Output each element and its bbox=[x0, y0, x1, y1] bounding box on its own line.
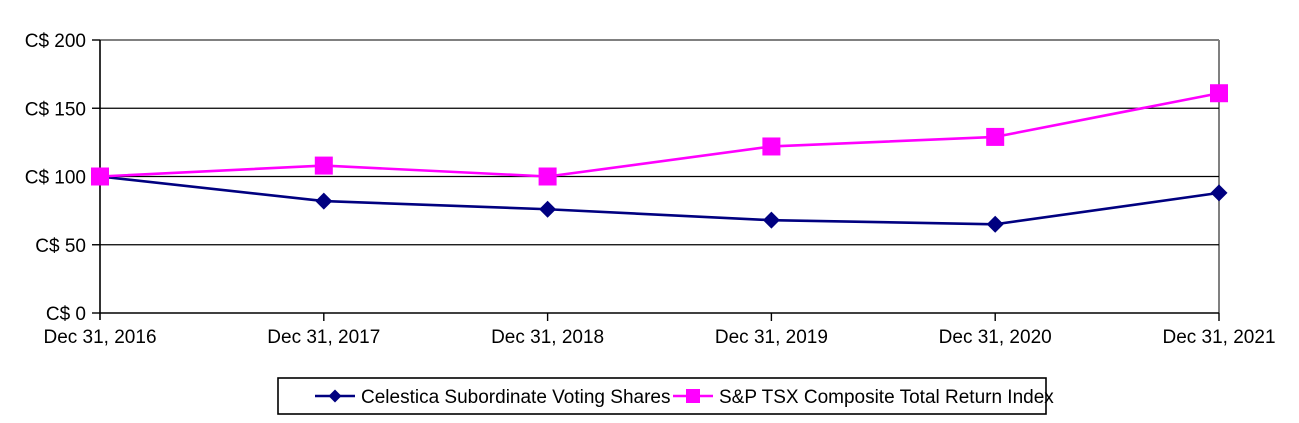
y-axis-label-0: C$ 0 bbox=[46, 304, 86, 325]
chart-background bbox=[0, 0, 1299, 423]
square-marker-icon bbox=[686, 389, 700, 403]
x-axis-label-2016: Dec 31, 2016 bbox=[43, 327, 156, 348]
x-axis-label-2019: Dec 31, 2019 bbox=[715, 327, 828, 348]
legend-label-celestica: Celestica Subordinate Voting Shares bbox=[361, 387, 670, 408]
square-marker-icon bbox=[1210, 84, 1228, 102]
square-marker-icon bbox=[91, 168, 109, 186]
chart-canvas: C$ 200 C$ 150 C$ 100 C$ 50 C$ 0 Dec 31, … bbox=[0, 0, 1299, 423]
square-marker-icon bbox=[315, 157, 333, 175]
x-axis-label-2018: Dec 31, 2018 bbox=[491, 327, 604, 348]
x-axis-label-2020: Dec 31, 2020 bbox=[939, 327, 1052, 348]
legend-entry-sptsx[interactable]: S&P TSX Composite Total Return Index bbox=[673, 387, 1054, 408]
x-axis-label-2021: Dec 31, 2021 bbox=[1162, 327, 1275, 348]
legend-label-sptsx: S&P TSX Composite Total Return Index bbox=[719, 387, 1054, 408]
legend-entry-celestica[interactable]: Celestica Subordinate Voting Shares bbox=[315, 387, 670, 408]
stock-performance-chart: C$ 200 C$ 150 C$ 100 C$ 50 C$ 0 Dec 31, … bbox=[0, 0, 1299, 423]
x-axis-label-2017: Dec 31, 2017 bbox=[267, 327, 380, 348]
y-axis-label-150: C$ 150 bbox=[25, 99, 86, 120]
y-axis-label-50: C$ 50 bbox=[35, 236, 86, 257]
square-marker-icon bbox=[762, 137, 780, 155]
y-axis-label-200: C$ 200 bbox=[25, 31, 86, 52]
y-axis-label-100: C$ 100 bbox=[25, 168, 86, 189]
square-marker-icon bbox=[539, 168, 557, 186]
chart-legend: Celestica Subordinate Voting Shares S&P … bbox=[278, 378, 1054, 414]
square-marker-icon bbox=[986, 128, 1004, 146]
